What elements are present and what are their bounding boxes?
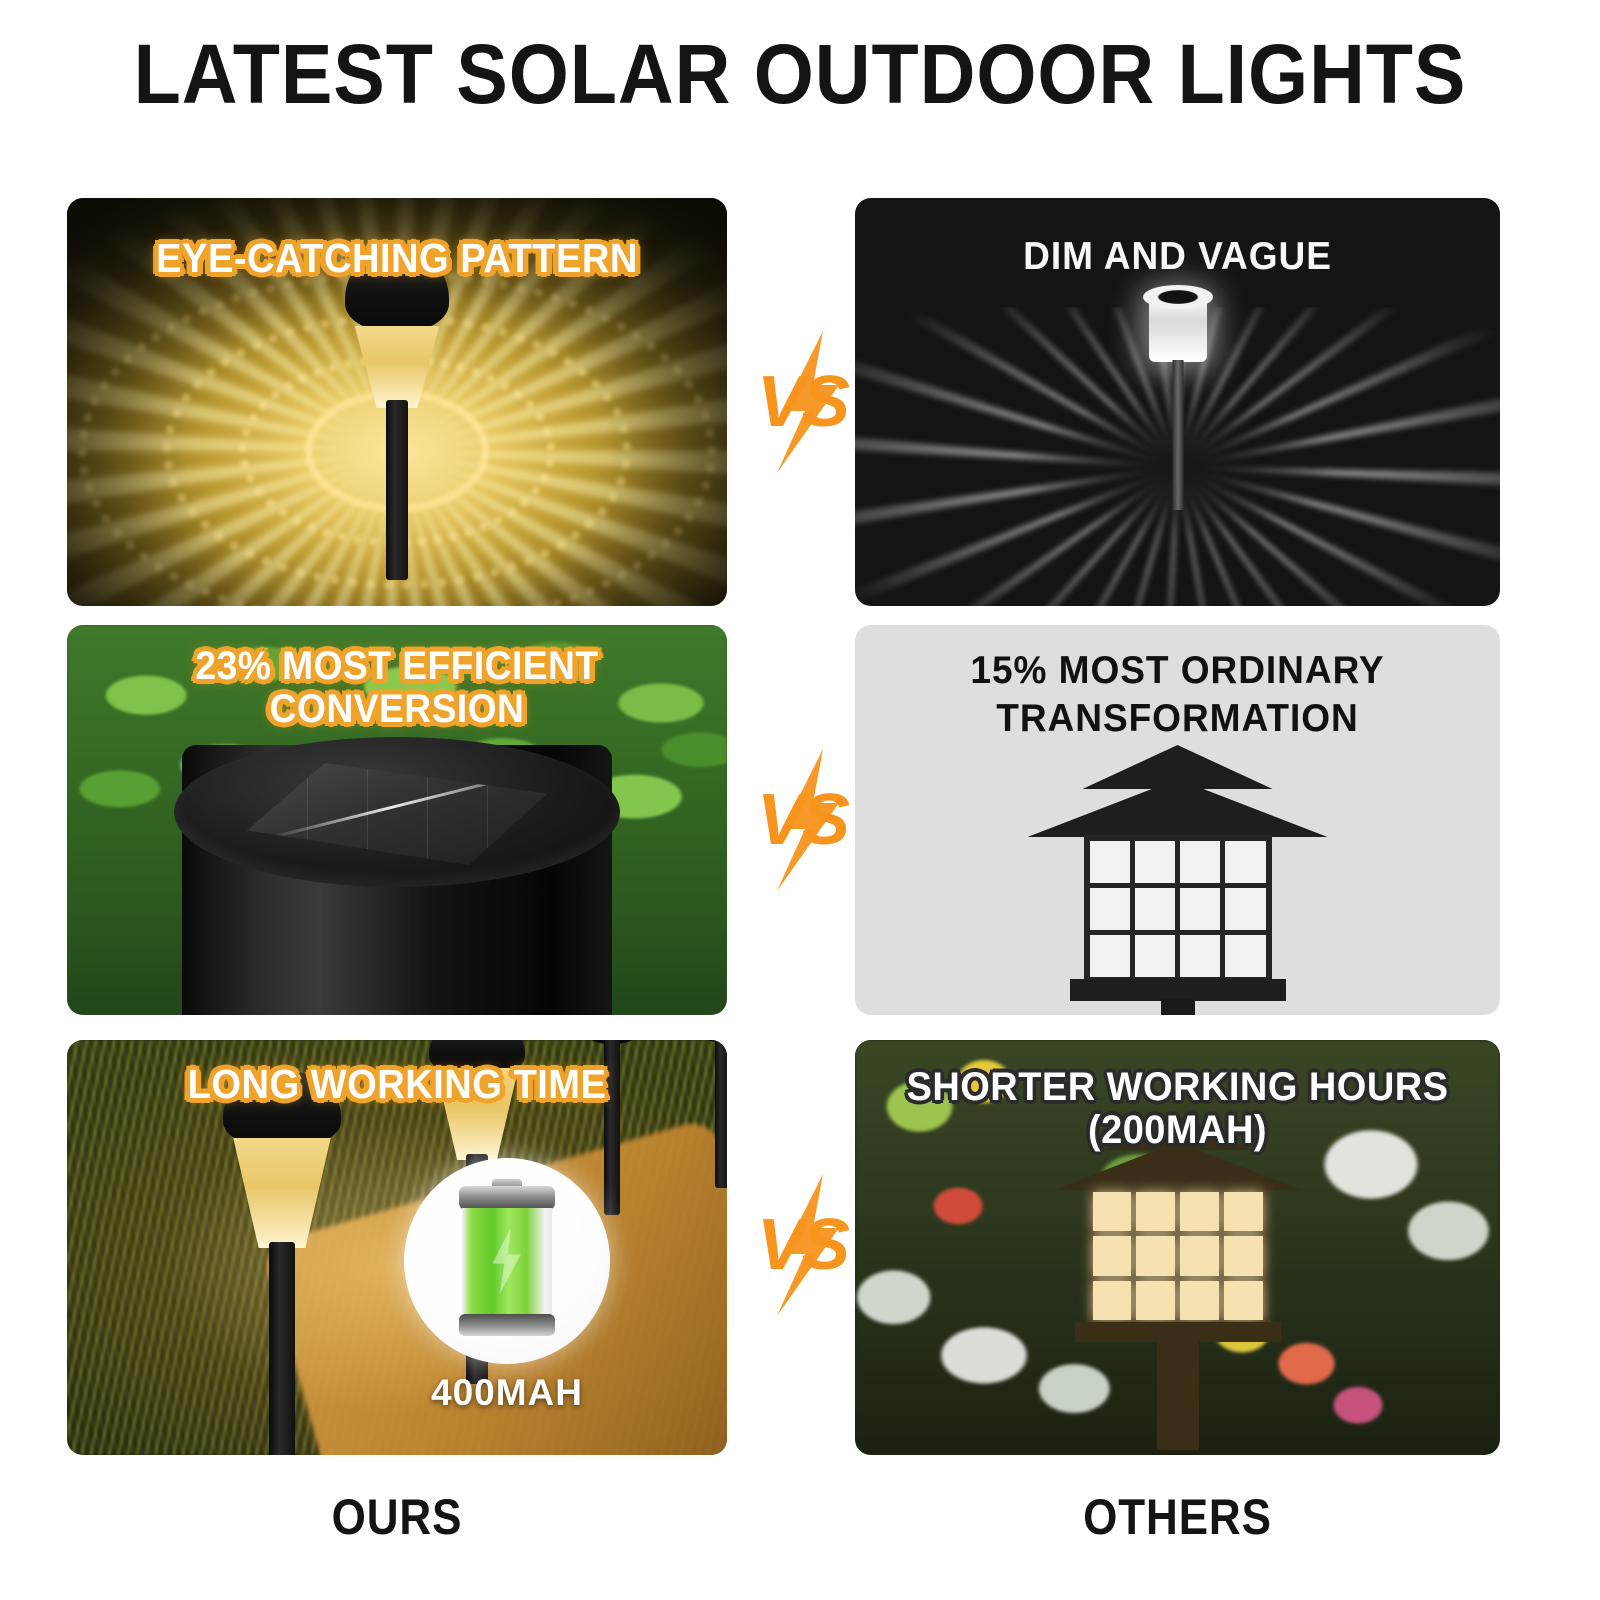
lantern-pane bbox=[1093, 1281, 1132, 1320]
panel-ours-working-time: 400MAH LONG WORKING TIME bbox=[67, 1040, 727, 1455]
panel-others-dim: DIM AND VAGUE bbox=[855, 198, 1500, 606]
lantern-pane bbox=[1136, 1281, 1175, 1320]
stake-light-front bbox=[212, 1070, 352, 1400]
lantern-pane bbox=[1180, 1281, 1219, 1320]
caption-ours-1: EYE-CATCHING PATTERN bbox=[90, 236, 704, 280]
footer-label-others: OTHERS bbox=[894, 1488, 1462, 1546]
lantern-roof-lower bbox=[1028, 779, 1328, 837]
solar-stake-light bbox=[337, 248, 457, 548]
others-light-pole bbox=[1172, 360, 1183, 510]
lantern-base bbox=[1075, 1322, 1281, 1342]
lantern-pane bbox=[1225, 888, 1265, 930]
pagoda-lantern-icon bbox=[1008, 745, 1348, 1015]
panel-ours-conversion: 23% MOST EFFICIENT CONVERSION bbox=[67, 625, 727, 1015]
caption-ours-3: LONG WORKING TIME bbox=[90, 1062, 704, 1106]
lantern-pane bbox=[1135, 888, 1175, 930]
light-cone bbox=[229, 1138, 335, 1248]
vs-label-3: VS bbox=[727, 1204, 877, 1286]
pagoda-lantern-lit-icon bbox=[1028, 1116, 1328, 1446]
lantern-pane bbox=[1180, 888, 1220, 930]
lantern-base bbox=[1070, 979, 1286, 1001]
caption-others-3: SHORTER WORKING HOURS (200MAH) bbox=[871, 1066, 1484, 1152]
lantern-pane bbox=[1224, 1192, 1263, 1231]
caption-others-2: 15% MOST ORDINARY TRANSFORMATION bbox=[871, 647, 1484, 742]
lantern-post bbox=[1157, 1340, 1199, 1450]
lantern-pane bbox=[1136, 1192, 1175, 1231]
others-light-head bbox=[1149, 294, 1207, 362]
lantern-pane bbox=[1090, 841, 1130, 883]
vs-badge-1: VS bbox=[727, 327, 877, 477]
lantern-pane bbox=[1135, 841, 1175, 883]
infographic-page: LATEST SOLAR OUTDOOR LIGHTS EYE-CATCHING… bbox=[0, 0, 1600, 1600]
lantern-pane bbox=[1135, 935, 1175, 977]
light-pole bbox=[269, 1242, 295, 1455]
lantern-post bbox=[1161, 999, 1195, 1015]
lantern-pane bbox=[1136, 1236, 1175, 1275]
lantern-pane bbox=[1180, 935, 1220, 977]
light-pole bbox=[715, 1040, 727, 1188]
lantern-pane bbox=[1225, 841, 1265, 883]
battery-cap-top bbox=[459, 1186, 555, 1210]
badge-circle bbox=[404, 1158, 610, 1364]
vs-badge-2: VS bbox=[727, 745, 877, 895]
caption-ours-2: 23% MOST EFFICIENT CONVERSION bbox=[90, 645, 704, 731]
lantern-pane bbox=[1180, 1236, 1219, 1275]
lantern-pane bbox=[1180, 841, 1220, 883]
lantern-body bbox=[1084, 835, 1272, 983]
lantern-pane bbox=[1090, 888, 1130, 930]
panel-ours-pattern: EYE-CATCHING PATTERN bbox=[67, 198, 727, 606]
battery-badge: 400MAH bbox=[404, 1158, 610, 1414]
lantern-pane bbox=[1090, 935, 1130, 977]
battery-capacity-label: 400MAH bbox=[404, 1372, 610, 1414]
battery-charging-icon bbox=[459, 1186, 555, 1336]
page-title: LATEST SOLAR OUTDOOR LIGHTS bbox=[64, 26, 1536, 123]
lantern-pane bbox=[1225, 935, 1265, 977]
panel-others-working-hours: SHORTER WORKING HOURS (200MAH) bbox=[855, 1040, 1500, 1455]
battery-cap-bottom bbox=[459, 1314, 555, 1336]
caption-others-1: DIM AND VAGUE bbox=[871, 236, 1484, 278]
vs-badge-3: VS bbox=[727, 1170, 877, 1320]
lantern-pane bbox=[1180, 1192, 1219, 1231]
lantern-pane bbox=[1093, 1192, 1132, 1231]
vs-label-1: VS bbox=[727, 361, 877, 443]
lantern-body bbox=[1087, 1186, 1269, 1326]
light-pole bbox=[386, 400, 408, 580]
lantern-pane bbox=[1093, 1236, 1132, 1275]
footer-label-ours: OURS bbox=[107, 1488, 688, 1546]
lantern-pane bbox=[1224, 1236, 1263, 1275]
vs-label-2: VS bbox=[727, 779, 877, 861]
panel-others-transformation: 15% MOST ORDINARY TRANSFORMATION bbox=[855, 625, 1500, 1015]
lantern-pane bbox=[1224, 1281, 1263, 1320]
light-cone bbox=[351, 326, 443, 408]
